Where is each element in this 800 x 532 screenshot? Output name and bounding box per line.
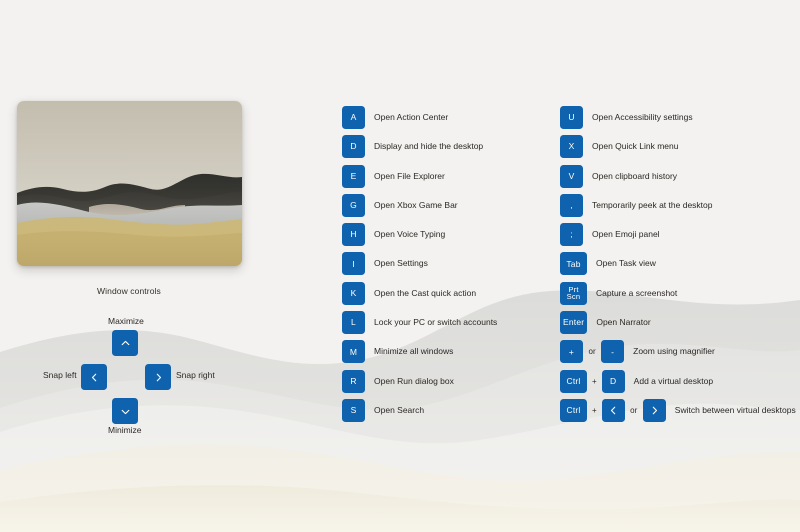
key-chevron-left[interactable] xyxy=(602,399,625,422)
shortcuts-poster: Window controls Maximize Snap left xyxy=(0,0,800,532)
key-h[interactable]: H xyxy=(342,223,365,246)
shortcut-row: KOpen the Cast quick action xyxy=(342,282,497,311)
key-sym[interactable]: , xyxy=(560,194,583,217)
chevron-left-icon xyxy=(89,372,100,383)
shortcut-keys: H xyxy=(342,223,365,246)
key-label: Ctrl xyxy=(566,406,580,415)
shortcut-keys: +or- xyxy=(560,340,624,363)
key-label: R xyxy=(350,377,356,386)
shortcut-description: Open Task view xyxy=(596,252,656,275)
key-label: D xyxy=(350,142,356,151)
shortcut-description: Lock your PC or switch accounts xyxy=(374,311,497,334)
shortcut-row: TabOpen Task view xyxy=(560,252,796,281)
shortcut-row: GOpen Xbox Game Bar xyxy=(342,194,497,223)
shortcut-keys: Ctrl+or xyxy=(560,399,666,422)
shortcut-list-left: AOpen Action CenterDDisplay and hide the… xyxy=(342,106,497,428)
shortcut-row: ROpen Run dialog box xyxy=(342,370,497,399)
shortcut-row: PrtScnCapture a screenshot xyxy=(560,282,796,311)
key-d[interactable]: D xyxy=(602,370,625,393)
key-label: U xyxy=(568,113,574,122)
key-line: Scn xyxy=(567,293,581,301)
shortcut-row: EnterOpen Narrator xyxy=(560,311,796,340)
shortcut-row: XOpen Quick Link menu xyxy=(560,135,796,164)
key-label: Enter xyxy=(563,318,584,327)
key-g[interactable]: G xyxy=(342,194,365,217)
shortcut-keys: R xyxy=(342,370,365,393)
key-x[interactable]: X xyxy=(560,135,583,158)
shortcut-keys: , xyxy=(560,194,583,217)
shortcut-keys: PrtScn xyxy=(560,282,587,305)
shortcut-description: Open Action Center xyxy=(374,106,448,129)
shortcut-keys: G xyxy=(342,194,365,217)
shortcut-description: Add a virtual desktop xyxy=(634,370,713,393)
key-label: V xyxy=(569,172,575,181)
shortcut-description: Capture a screenshot xyxy=(596,282,677,305)
shortcut-row: AOpen Action Center xyxy=(342,106,497,135)
shortcut-row: ,Temporarily peek at the desktop xyxy=(560,194,796,223)
shortcut-keys: M xyxy=(342,340,365,363)
window-controls-diagram: Maximize Snap left Snap righ xyxy=(0,280,260,440)
key-label: X xyxy=(569,142,575,151)
maximize-button[interactable] xyxy=(112,330,138,356)
shortcut-keys: A xyxy=(342,106,365,129)
shortcut-description: Switch between virtual desktops xyxy=(675,399,796,422)
shortcut-row: DDisplay and hide the desktop xyxy=(342,135,497,164)
key-a[interactable]: A xyxy=(342,106,365,129)
chevron-up-icon xyxy=(120,338,131,349)
key-i[interactable]: I xyxy=(342,252,365,275)
shortcut-row: ;Open Emoji panel xyxy=(560,223,796,252)
shortcut-description: Open File Explorer xyxy=(374,165,445,188)
key-separator: or xyxy=(583,347,601,356)
shortcut-row: EOpen File Explorer xyxy=(342,165,497,194)
shortcut-keys: K xyxy=(342,282,365,305)
maximize-label: Maximize xyxy=(108,316,144,326)
shortcut-row: IOpen Settings xyxy=(342,252,497,281)
key-label: K xyxy=(351,289,357,298)
key-ctrl[interactable]: Ctrl xyxy=(560,399,587,422)
shortcut-keys: E xyxy=(342,165,365,188)
shortcut-row: SOpen Search xyxy=(342,399,497,428)
chevron-right-icon xyxy=(153,372,164,383)
shortcut-keys: ; xyxy=(560,223,583,246)
snap-left-label: Snap left xyxy=(43,370,77,380)
key-label: A xyxy=(351,113,357,122)
key-u[interactable]: U xyxy=(560,106,583,129)
shortcut-description: Display and hide the desktop xyxy=(374,135,483,158)
key-label: I xyxy=(352,260,355,269)
key-label: ; xyxy=(570,230,573,239)
shortcut-keys: L xyxy=(342,311,365,334)
key-label: , xyxy=(570,201,573,210)
snap-right-button[interactable] xyxy=(145,364,171,390)
key-ctrl[interactable]: Ctrl xyxy=(560,370,587,393)
key-chevron-right[interactable] xyxy=(643,399,666,422)
shortcut-keys: X xyxy=(560,135,583,158)
shortcut-description: Open Run dialog box xyxy=(374,370,454,393)
shortcut-description: Open Search xyxy=(374,399,424,422)
key-label: L xyxy=(351,318,356,327)
key-separator: + xyxy=(587,377,602,386)
snap-right-label: Snap right xyxy=(176,370,215,380)
shortcut-description: Open Quick Link menu xyxy=(592,135,678,158)
key-prt-scn[interactable]: PrtScn xyxy=(560,282,587,305)
shortcut-keys: I xyxy=(342,252,365,275)
shortcut-description: Temporarily peek at the desktop xyxy=(592,194,712,217)
shortcut-description: Open Voice Typing xyxy=(374,223,445,246)
key-sym[interactable]: - xyxy=(601,340,624,363)
shortcut-description: Open Emoji panel xyxy=(592,223,660,246)
shortcut-description: Open the Cast quick action xyxy=(374,282,476,305)
shortcut-row: MMinimize all windows xyxy=(342,340,497,369)
chevron-right-icon xyxy=(649,405,660,416)
shortcut-keys: Tab xyxy=(560,252,587,275)
key-m[interactable]: M xyxy=(342,340,365,363)
shortcut-keys: Ctrl+D xyxy=(560,370,625,393)
shortcut-description: Open Narrator xyxy=(596,311,650,334)
shortcut-description: Open Accessibility settings xyxy=(592,106,693,129)
key-sym[interactable]: ; xyxy=(560,223,583,246)
key-v[interactable]: V xyxy=(560,165,583,188)
minimize-button[interactable] xyxy=(112,398,138,424)
key-label: Tab xyxy=(566,260,580,269)
wallpaper-thumbnail-art xyxy=(17,101,242,266)
key-label: G xyxy=(350,201,357,210)
shortcut-keys: V xyxy=(560,165,583,188)
key-enter[interactable]: Enter xyxy=(560,311,587,334)
key-label: D xyxy=(610,377,616,386)
shortcut-row: VOpen clipboard history xyxy=(560,165,796,194)
shortcut-row: HOpen Voice Typing xyxy=(342,223,497,252)
shortcut-keys: D xyxy=(342,135,365,158)
key-label: S xyxy=(351,406,357,415)
shortcut-row: UOpen Accessibility settings xyxy=(560,106,796,135)
key-separator: or xyxy=(625,406,643,415)
shortcut-keys: U xyxy=(560,106,583,129)
chevron-down-icon xyxy=(120,406,131,417)
shortcut-description: Open clipboard history xyxy=(592,165,677,188)
key-sym[interactable]: + xyxy=(560,340,583,363)
shortcut-list-right: UOpen Accessibility settingsXOpen Quick … xyxy=(560,106,796,428)
key-r[interactable]: R xyxy=(342,370,365,393)
wallpaper-thumbnail xyxy=(17,101,242,266)
key-label: H xyxy=(350,230,356,239)
key-l[interactable]: L xyxy=(342,311,365,334)
key-label: Ctrl xyxy=(566,377,580,386)
key-separator: + xyxy=(587,406,602,415)
shortcut-keys: S xyxy=(342,399,365,422)
key-s[interactable]: S xyxy=(342,399,365,422)
shortcut-keys: Enter xyxy=(560,311,587,334)
key-label: E xyxy=(351,172,357,181)
shortcut-description: Open Xbox Game Bar xyxy=(374,194,458,217)
key-label: - xyxy=(611,348,614,357)
shortcut-description: Minimize all windows xyxy=(374,340,453,363)
key-label: M xyxy=(350,348,357,357)
key-label: + xyxy=(569,348,574,357)
snap-left-button[interactable] xyxy=(81,364,107,390)
shortcut-description: Open Settings xyxy=(374,252,428,275)
shortcut-row: Ctrl+DAdd a virtual desktop xyxy=(560,370,796,399)
shortcut-row: Ctrl+orSwitch between virtual desktops xyxy=(560,399,796,428)
shortcut-row: LLock your PC or switch accounts xyxy=(342,311,497,340)
chevron-left-icon xyxy=(608,405,619,416)
shortcut-row: +or-Zoom using magnifier xyxy=(560,340,796,369)
key-k[interactable]: K xyxy=(342,282,365,305)
key-e[interactable]: E xyxy=(342,165,365,188)
shortcut-description: Zoom using magnifier xyxy=(633,340,715,363)
minimize-label: Minimize xyxy=(108,425,142,435)
key-d[interactable]: D xyxy=(342,135,365,158)
key-tab[interactable]: Tab xyxy=(560,252,587,275)
